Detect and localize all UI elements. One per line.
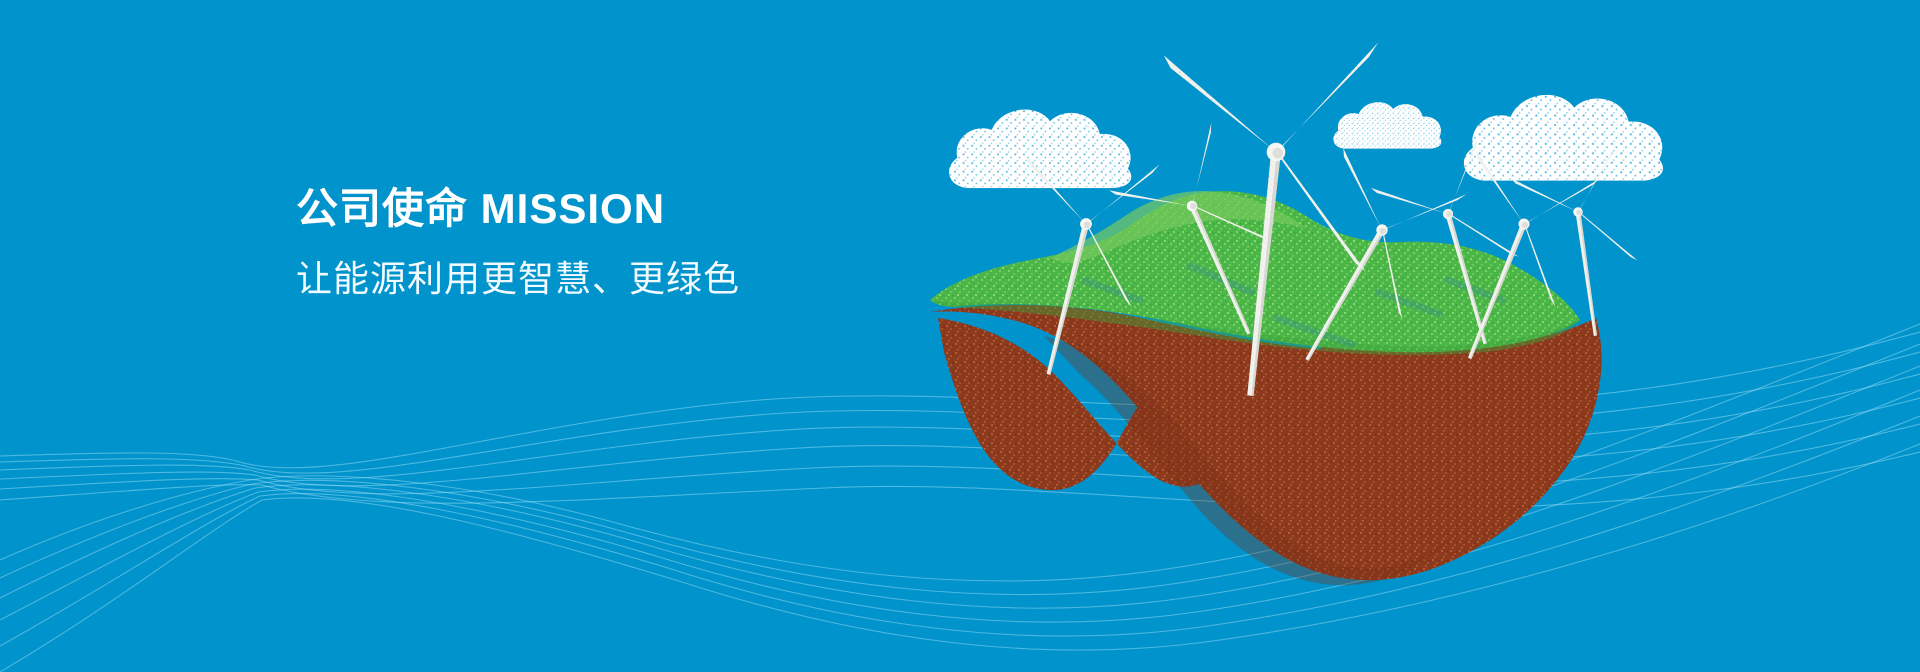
floating-island-illustration: [0, 0, 1920, 672]
page-subtitle: 让能源利用更智慧、更绿色: [296, 259, 1056, 299]
mission-text-block: 公司使命 MISSION 让能源利用更智慧、更绿色: [296, 186, 1056, 299]
cloud-left: [949, 110, 1131, 189]
mission-banner: 公司使命 MISSION 让能源利用更智慧、更绿色: [0, 0, 1920, 672]
page-title: 公司使命 MISSION: [296, 186, 1056, 231]
cloud-mid: [1333, 102, 1441, 149]
cloud-right: [1464, 95, 1663, 181]
